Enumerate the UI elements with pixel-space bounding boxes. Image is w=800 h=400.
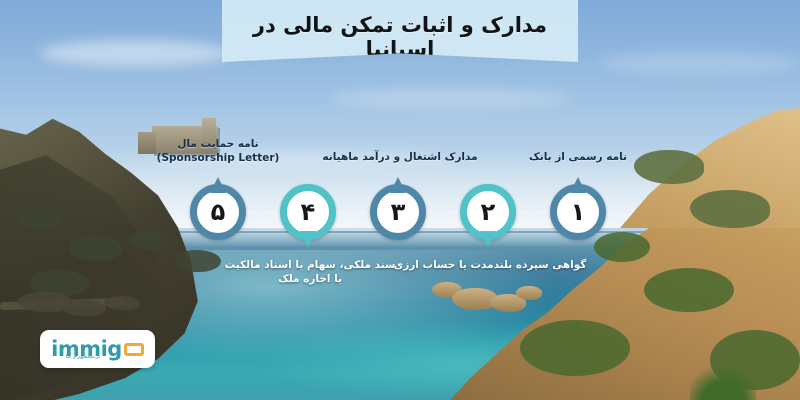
step-label-5-line2: (Sponsorship Letter) bbox=[138, 151, 298, 165]
shrub bbox=[18, 205, 62, 229]
shrub bbox=[644, 268, 734, 312]
shore-rocks bbox=[104, 296, 140, 310]
step-number-3: ۳ bbox=[391, 200, 406, 224]
step-number-4: ۴ bbox=[301, 200, 316, 224]
shrub bbox=[520, 320, 630, 376]
pointer-tail-up-icon bbox=[390, 177, 406, 193]
logo-tagline: ترنسفورم ما bbox=[53, 354, 113, 360]
pointer-tail-up-icon bbox=[570, 177, 586, 193]
logo-square-o-icon bbox=[124, 343, 144, 356]
shrub bbox=[690, 190, 770, 228]
step-marker-2[interactable]: ۲ bbox=[460, 184, 516, 240]
step-label-2: گواهی سپرده بلندمدت یا حساب ارزی bbox=[392, 258, 588, 272]
step-marker-4[interactable]: ۴ bbox=[280, 184, 336, 240]
timeline-step-1[interactable]: ۱ bbox=[550, 184, 606, 240]
cloud bbox=[40, 40, 230, 66]
cloud bbox=[330, 88, 570, 108]
step-label-3: مدارک اشتغال و درآمد ماهیانه bbox=[312, 150, 488, 164]
step-label-3-line1: مدارک اشتغال و درآمد ماهیانه bbox=[312, 150, 488, 164]
step-label-4-line1: سند ملکی، سهام یا اسناد مالکیت bbox=[218, 258, 402, 272]
step-number-2: ۲ bbox=[481, 200, 496, 224]
pointer-tail-down-icon bbox=[480, 231, 496, 247]
cloud bbox=[600, 52, 800, 74]
step-marker-3[interactable]: ۳ bbox=[370, 184, 426, 240]
shrub bbox=[130, 230, 170, 250]
step-label-4: سند ملکی، سهام یا اسناد مالکیت یا اجاره … bbox=[218, 258, 402, 286]
title-banner: مدارک و اثبات تمکن مالی در اسپانیا bbox=[222, 0, 578, 62]
timeline-step-4[interactable]: ۴ bbox=[280, 184, 336, 240]
sea-rock bbox=[516, 286, 542, 300]
step-label-2-line1: گواهی سپرده بلندمدت یا حساب ارزی bbox=[392, 258, 588, 272]
shrub bbox=[175, 250, 221, 272]
pointer-tail-up-icon bbox=[210, 177, 226, 193]
timeline-step-3[interactable]: ۳ bbox=[370, 184, 426, 240]
step-label-1-line1: نامه رسمی از بانک bbox=[508, 150, 648, 164]
infographic-canvas: مدارک و اثبات تمکن مالی در اسپانیا ۵ نام… bbox=[0, 0, 800, 400]
timeline-step-2[interactable]: ۲ bbox=[460, 184, 516, 240]
pointer-tail-down-icon bbox=[300, 231, 316, 247]
shrub bbox=[70, 235, 122, 261]
timeline-step-5[interactable]: ۵ bbox=[190, 184, 246, 240]
step-number-5: ۵ bbox=[211, 200, 226, 224]
step-marker-1[interactable]: ۱ bbox=[550, 184, 606, 240]
step-label-1: نامه رسمی از بانک bbox=[508, 150, 648, 164]
step-marker-5[interactable]: ۵ bbox=[190, 184, 246, 240]
step-label-5-line1: نامه حمایت مال bbox=[138, 137, 298, 151]
step-label-4-line2: یا اجاره ملک bbox=[218, 272, 402, 286]
logo-lockup: immig ترنسفورم ما bbox=[51, 339, 144, 360]
step-label-5: نامه حمایت مال (Sponsorship Letter) bbox=[138, 137, 298, 165]
step-number-1: ۱ bbox=[571, 200, 586, 224]
immigo-logo[interactable]: immig ترنسفورم ما bbox=[40, 330, 155, 368]
palm-bush bbox=[690, 360, 756, 400]
shore-rocks bbox=[62, 300, 106, 316]
